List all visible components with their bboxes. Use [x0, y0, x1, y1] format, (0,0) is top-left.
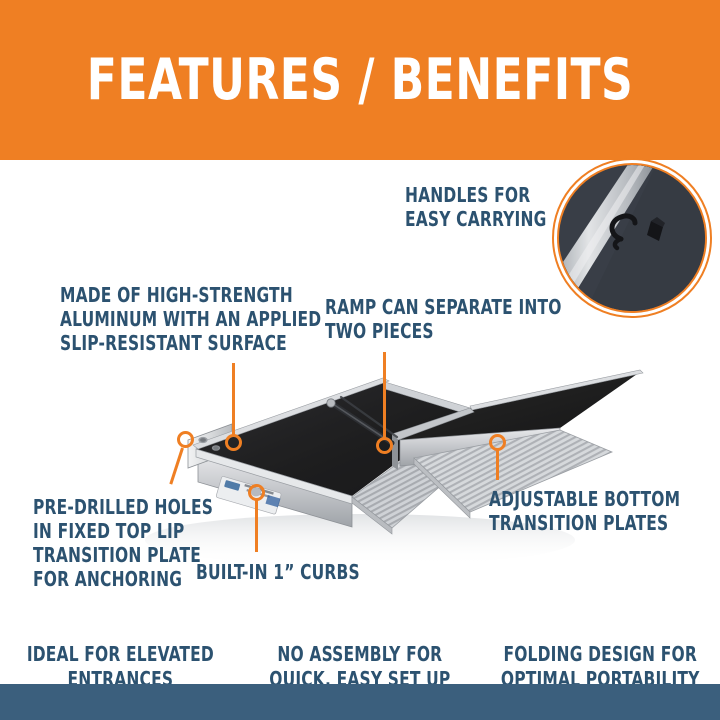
page-title: FEATURES / BENEFITS	[50, 50, 669, 110]
marker-adjustable[interactable]	[489, 434, 506, 451]
lead-line-separate	[383, 352, 386, 440]
lead-line-curbs	[255, 500, 258, 552]
benefits-row: IDEAL FOR ELEVATED ENTRANCES NO ASSEMBLY…	[0, 617, 720, 692]
callout-handles-for-easy-carrying: HANDLES FOR EASY CARRYING	[405, 183, 546, 231]
lead-line-aluminum	[232, 363, 235, 437]
benefit-ideal-for-elevated-entrances: IDEAL FOR ELEVATED ENTRANCES	[0, 617, 240, 692]
marker-curbs[interactable]	[248, 484, 265, 501]
callout-high-strength-aluminum: MADE OF HIGH-STRENGTH ALUMINUM WITH AN A…	[60, 283, 321, 355]
marker-aluminum[interactable]	[225, 434, 242, 451]
benefit-no-assembly: NO ASSEMBLY FOR QUICK, EASY SET UP	[240, 617, 480, 692]
lead-line-adjustable	[496, 450, 499, 480]
footer-bar	[0, 684, 720, 720]
callout-built-in-curbs: BUILT-IN 1” CURBS	[196, 560, 360, 584]
inset-inner-ring	[557, 163, 707, 313]
handle-closeup-inset[interactable]	[552, 158, 718, 324]
infographic-page: FEATURES / BENEFITS	[0, 0, 720, 720]
marker-predrilled[interactable]	[177, 431, 194, 448]
callout-ramp-can-separate: RAMP CAN SEPARATE INTO TWO PIECES	[325, 295, 562, 343]
callout-adjustable-bottom-transition-plates: ADJUSTABLE BOTTOM TRANSITION PLATES	[489, 487, 680, 535]
callout-pre-drilled-holes: PRE-DRILLED HOLES IN FIXED TOP LIP TRANS…	[33, 495, 213, 591]
benefit-folding-design: FOLDING DESIGN FOR OPTIMAL PORTABILITY	[480, 617, 720, 692]
marker-separate[interactable]	[376, 437, 393, 454]
header-banner: FEATURES / BENEFITS	[0, 0, 720, 160]
handle-closeup-photo	[559, 165, 705, 311]
lead-line-predrilled	[169, 448, 184, 485]
